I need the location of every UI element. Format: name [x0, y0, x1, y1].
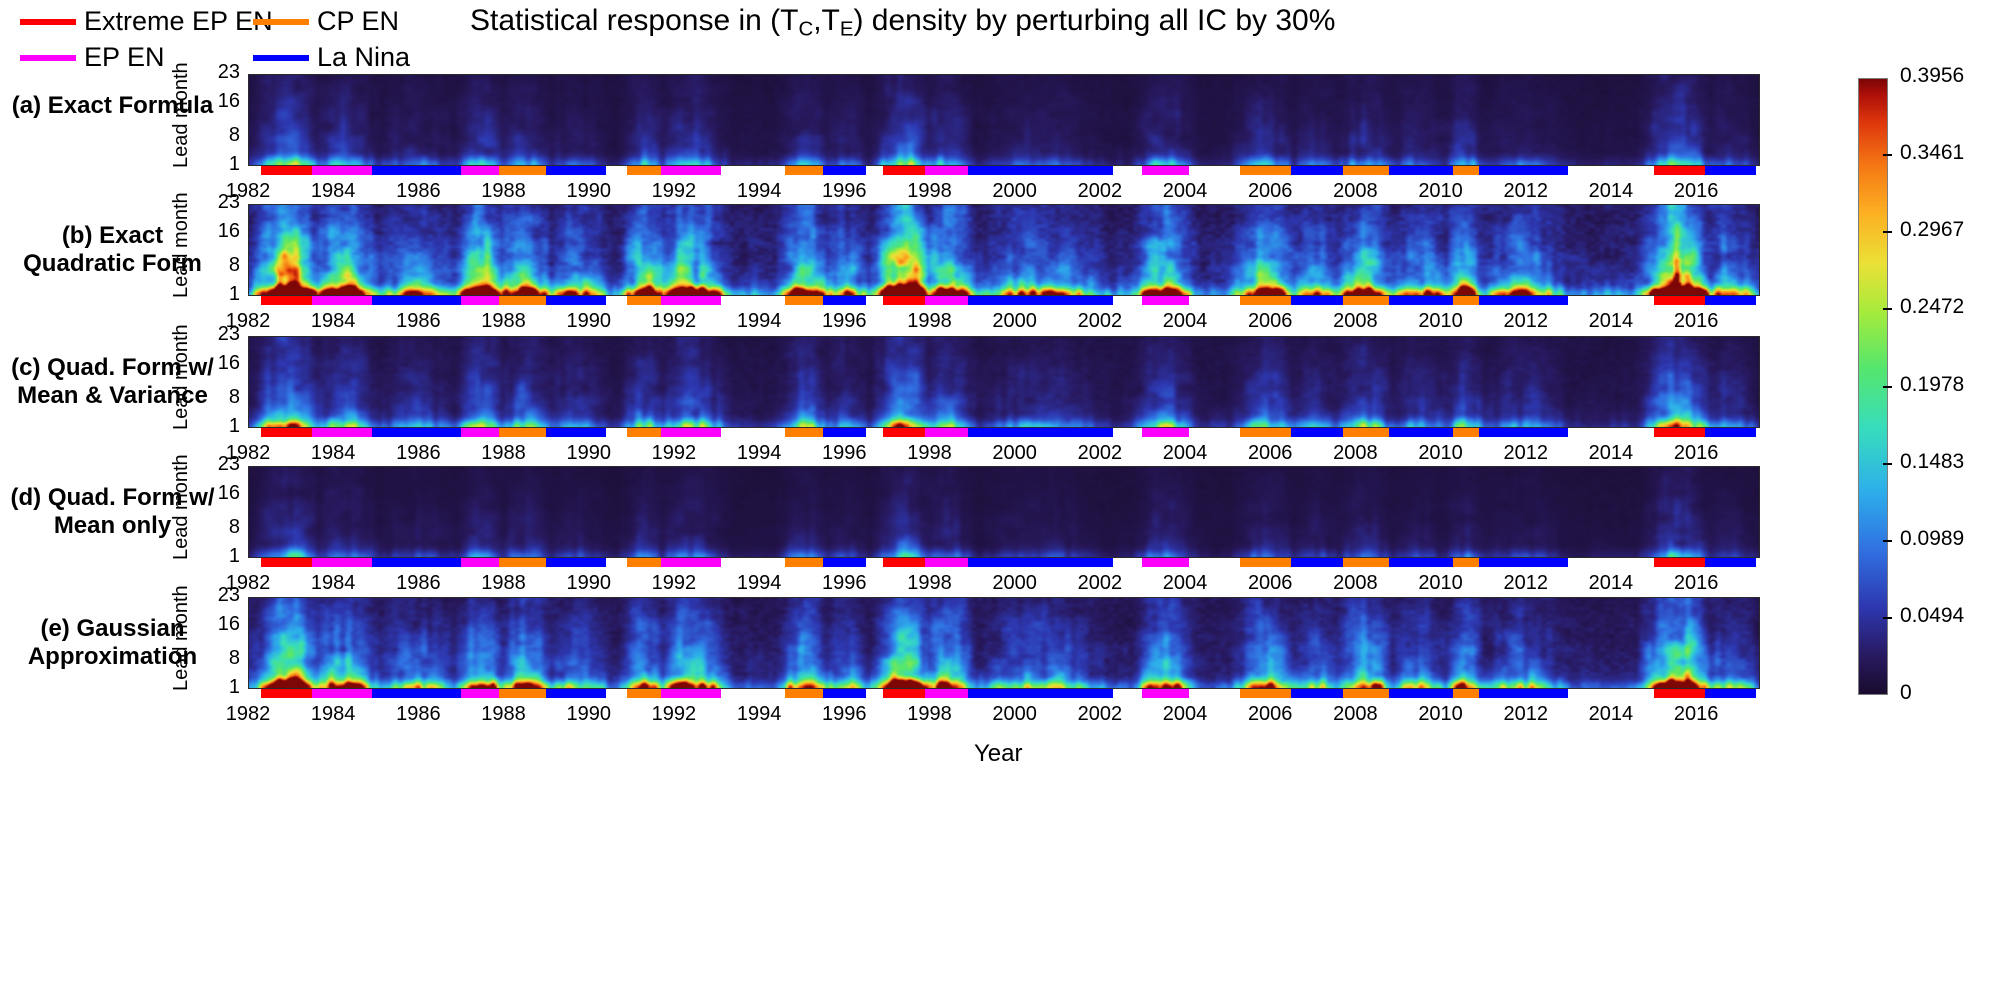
colorbar-tick-mark: [1883, 617, 1892, 619]
colorbar-tick-label-3: 0.2472: [1900, 295, 1964, 319]
colorbar-tick-mark: [1883, 231, 1892, 233]
figure-root: Extreme EP EN CP EN EP EN La Nina Statis…: [0, 0, 2000, 995]
colorbar-tick-label-7: 0.0494: [1900, 604, 1964, 628]
colorbar-tick-mark: [1883, 540, 1892, 542]
colorbar-tick-mark: [1883, 308, 1892, 310]
colorbar-tick-label-6: 0.0989: [1900, 527, 1964, 551]
colorbar-tick-mark: [1883, 154, 1892, 156]
colorbar-tick-mark: [1883, 386, 1892, 388]
colorbar-tick-label-0: 0.3956: [1900, 64, 1964, 88]
colorbar-container: 0.39560.34610.29670.24720.19780.14830.09…: [0, 0, 2000, 995]
colorbar-tick-mark: [1883, 463, 1892, 465]
colorbar-tick-label-8: 0: [1900, 681, 1912, 705]
colorbar-tick-label-1: 0.3461: [1900, 141, 1964, 165]
colorbar-tick-label-2: 0.2967: [1900, 218, 1964, 242]
colorbar-tick-label-5: 0.1483: [1900, 450, 1964, 474]
colorbar-tick-label-4: 0.1978: [1900, 373, 1964, 397]
